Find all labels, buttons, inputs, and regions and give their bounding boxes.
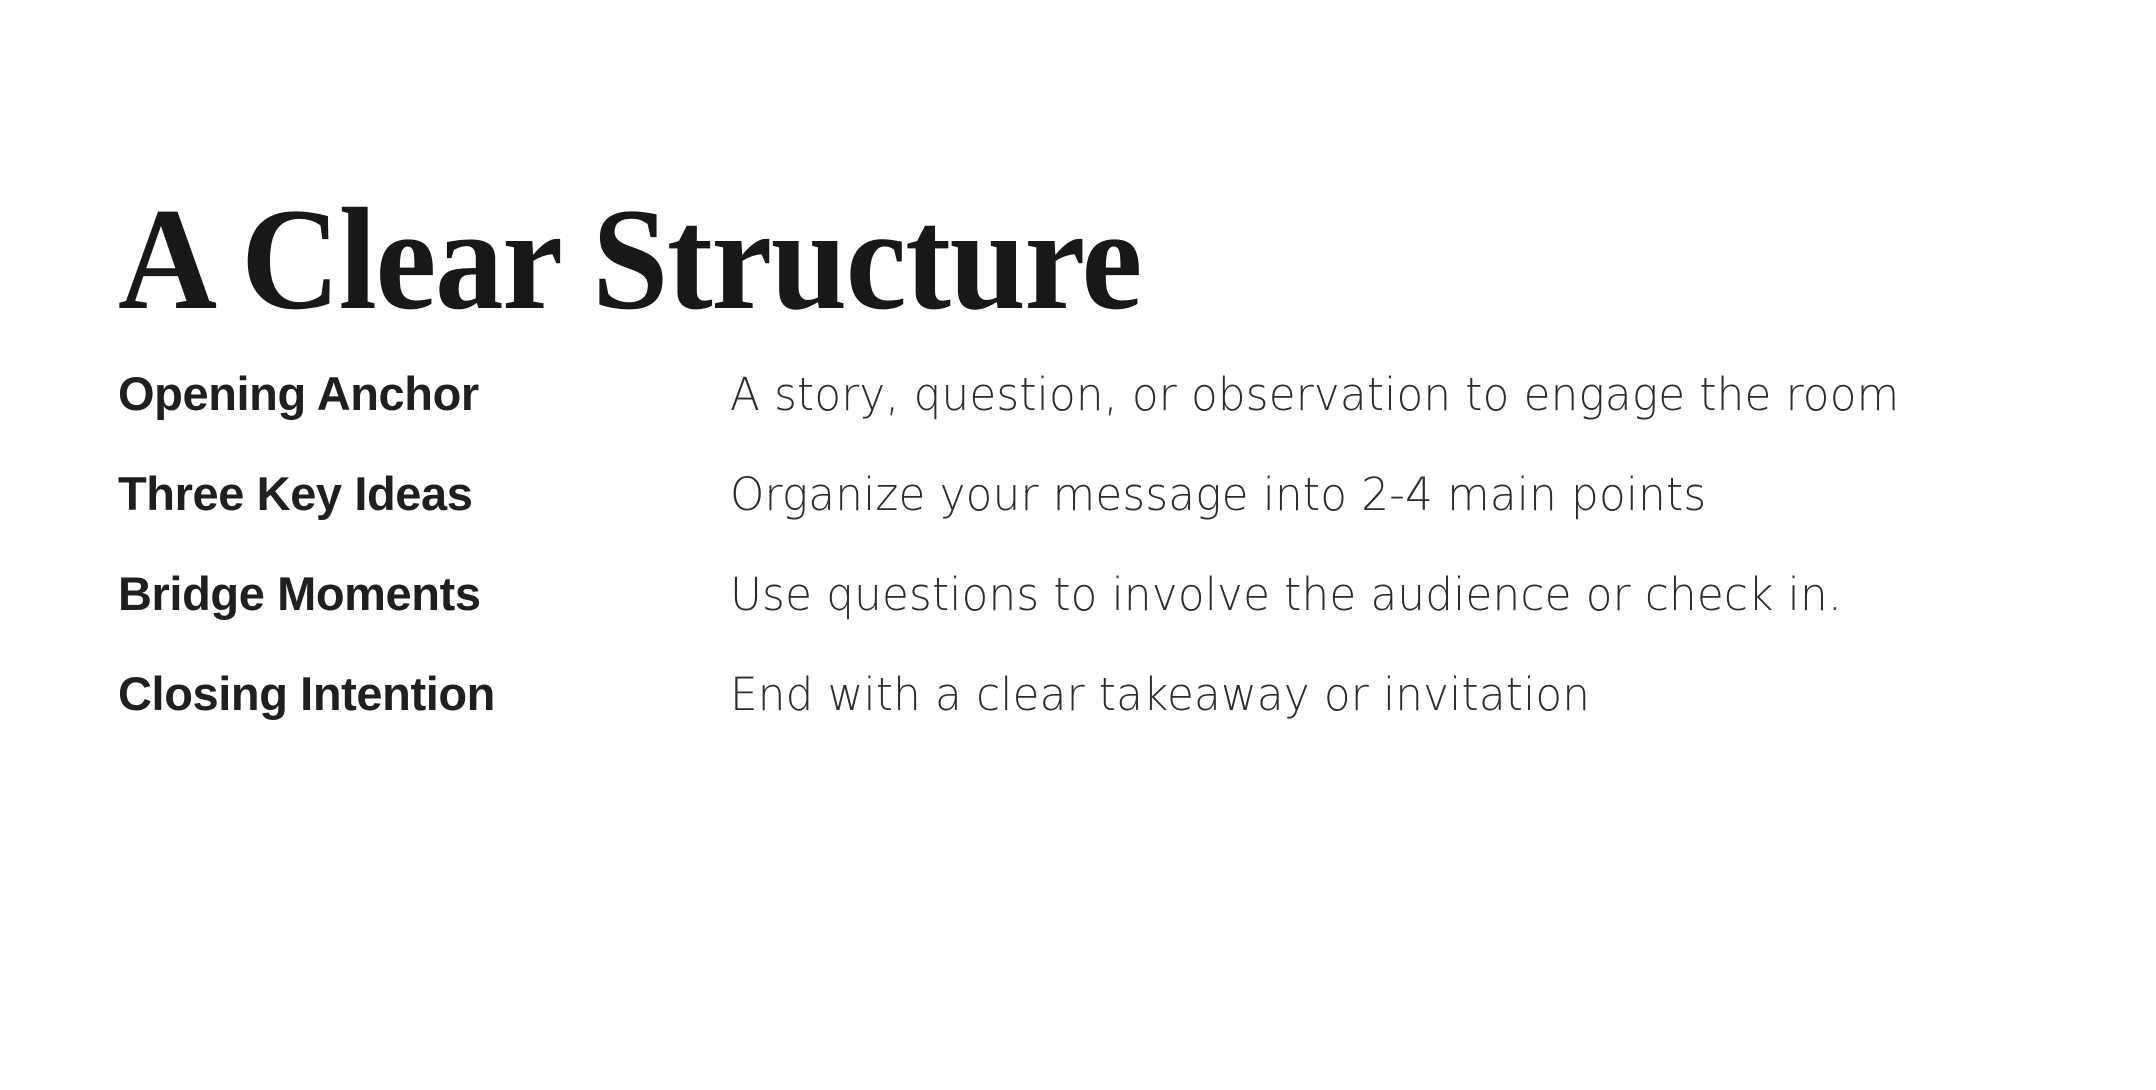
list-item: Closing Intention End with a clear takea…: [118, 670, 2078, 770]
presentation-slide: A Clear Structure Opening Anchor A story…: [0, 0, 2156, 1090]
structure-item-label-opening-anchor: Opening Anchor: [118, 370, 730, 417]
page-title: A Clear Structure: [118, 186, 1141, 332]
structure-item-label-three-key-ideas: Three Key Ideas: [118, 470, 730, 517]
structure-item-label-closing-intention: Closing Intention: [118, 670, 730, 717]
list-item: Three Key Ideas Organize your message in…: [118, 470, 2078, 570]
structure-item-description-closing-intention: End with a clear takeaway or invitation: [730, 672, 2038, 717]
structure-item-description-opening-anchor: A story, question, or observation to eng…: [730, 372, 2038, 417]
structure-item-label-bridge-moments: Bridge Moments: [118, 570, 730, 617]
list-item: Opening Anchor A story, question, or obs…: [118, 370, 2078, 470]
structure-list: Opening Anchor A story, question, or obs…: [118, 370, 2078, 770]
structure-item-description-bridge-moments: Use questions to involve the audience or…: [730, 572, 2038, 617]
structure-item-description-three-key-ideas: Organize your message into 2-4 main poin…: [730, 472, 2038, 517]
list-item: Bridge Moments Use questions to involve …: [118, 570, 2078, 670]
